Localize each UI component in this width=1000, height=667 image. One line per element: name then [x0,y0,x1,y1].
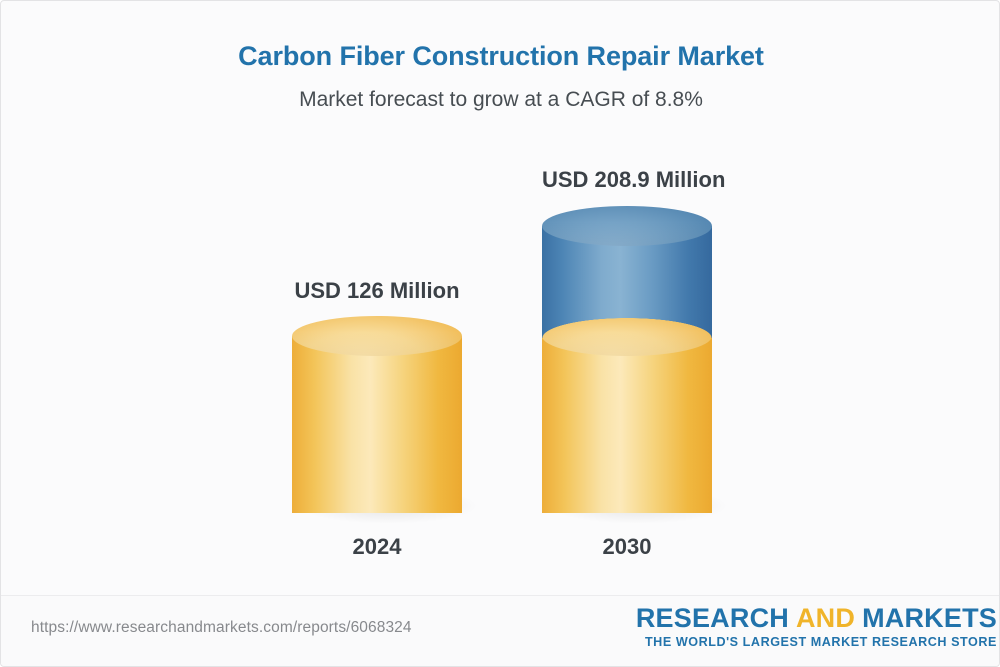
source-url-link[interactable]: https://www.researchandmarkets.com/repor… [31,619,412,637]
logo-tagline: THE WORLD'S LARGEST MARKET RESEARCH STOR… [636,635,997,649]
cylinder-top-2024 [292,316,462,356]
cylinder-top-shading-2024 [292,316,462,356]
logo-word-and: AND [789,603,862,633]
cylinder-body-2024 [292,336,462,513]
logo-word-markets: MARKETS [862,603,997,633]
cylinder-top-cap-2030 [542,206,712,246]
cylinder-2024 [292,316,462,513]
chart-plot-area: USD 126 Million 2024 USD 208.9 Million [1,1,1000,601]
cylinder-base-segment-2030 [542,316,712,513]
logo-wordmark: RESEARCHANDMARKETS [636,604,997,632]
chart-footer: https://www.researchandmarkets.com/repor… [1,596,1000,667]
logo-word-research: RESEARCH [636,603,789,633]
research-and-markets-logo[interactable]: RESEARCHANDMARKETS THE WORLD'S LARGEST M… [636,604,997,649]
cylinder-top-cap-shading-2030 [542,206,712,246]
bar-2024: USD 126 Million 2024 [292,1,462,601]
category-label-2030: 2030 [542,534,712,560]
bar-2030: USD 208.9 Million 2030 [542,1,712,601]
bar-value-label-2024: USD 126 Million [292,278,462,304]
bar-value-label-2030: USD 208.9 Million [542,167,712,193]
cylinder-top-segment-2030 [542,206,712,338]
cylinder-base-body-2030 [542,336,712,513]
category-label-2024: 2024 [292,534,462,560]
chart-page: Carbon Fiber Construction Repair Market … [0,0,1000,667]
